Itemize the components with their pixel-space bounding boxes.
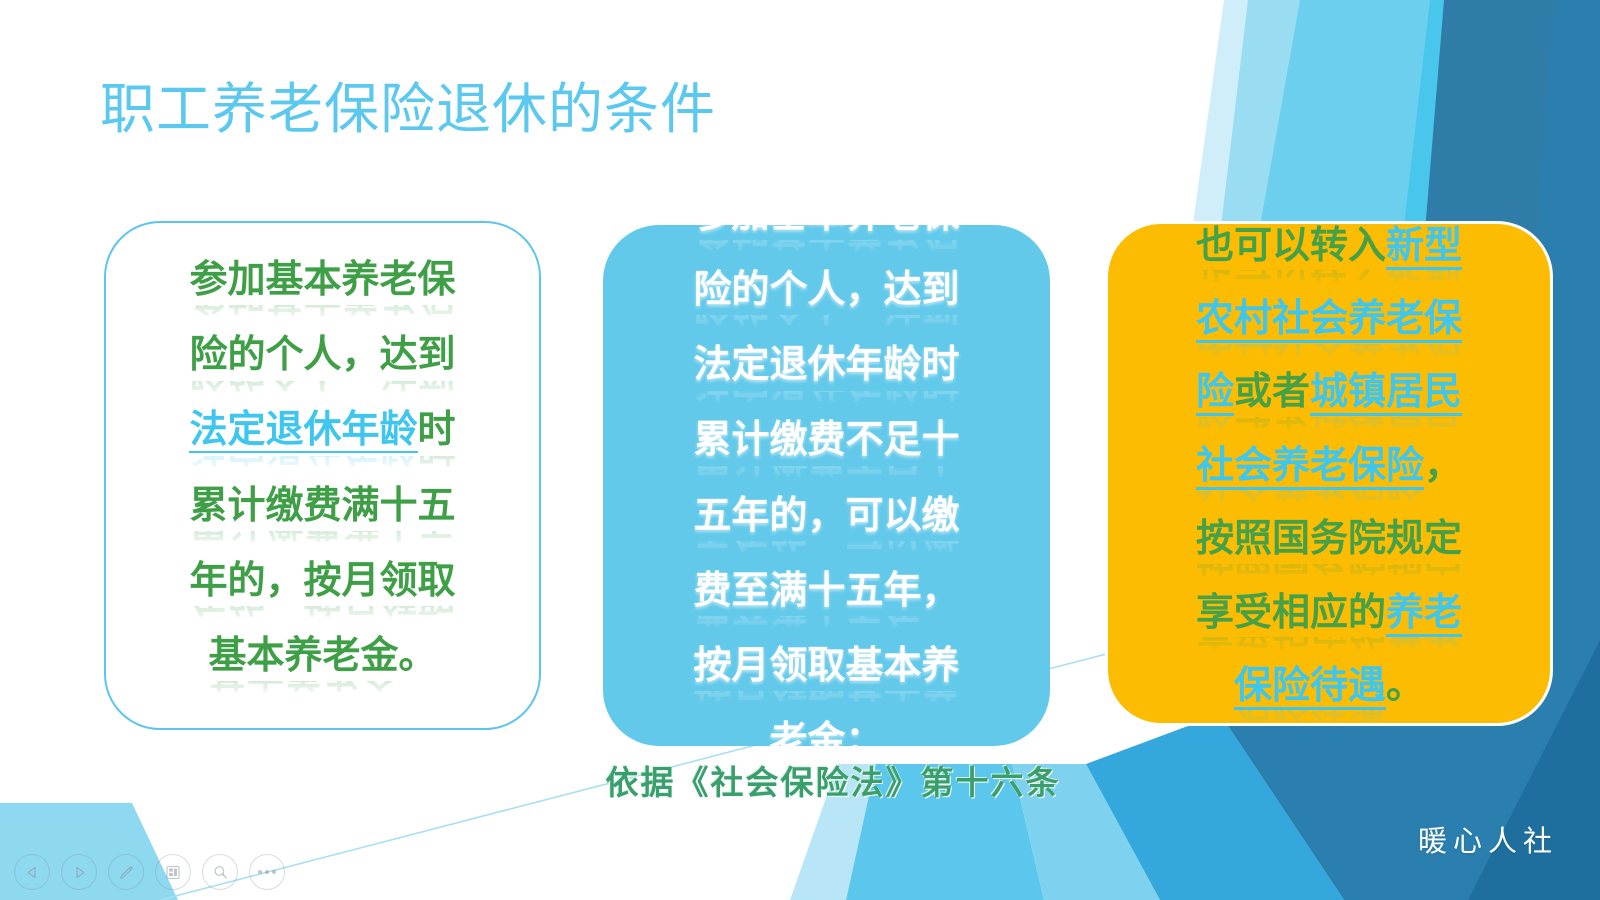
card-1-line-3-reflection: 法定退休年龄时 [124,456,521,476]
card-2-line-5-reflection: 五年的，可以缴 [621,541,1032,561]
zoom-tool-button[interactable] [202,854,238,890]
card-3-line-5: 按照国务院规定 [1196,515,1462,560]
card-1-line-1: 参加基本养老保 [189,256,455,301]
card-3-line-1-reflection: 也可以转入新型 [1126,270,1532,290]
card-3-highlight-5[interactable]: 社会养老保险 [1196,442,1424,490]
card-1-line-4-reflection: 累计缴费满十五 [124,531,521,551]
card-2-line-7: 按月领取基本养 [693,642,959,687]
presentation-slide: 职工养老保险退休的条件 参加基本养老保 参加基本养老保 险的个人，达到 险的个人… [0,0,1600,900]
card-3-highlight-4[interactable]: 城镇居民 [1310,368,1462,416]
card-1-line-6-reflection: 基本养老金。 [124,681,521,701]
card-3-line-6-reflection: 享受相应的养老 [1126,637,1532,657]
content-card-blue[interactable]: 参加基本养老保 参加基本养老保 险的个人，达到 险的个人，达到 法定退休年龄时 … [603,225,1050,746]
pen-icon [118,864,135,881]
card-2-line-3-reflection: 法定退休年龄时 [621,391,1032,411]
card-3-line-4-reflection: 社会养老保险， [1126,490,1532,510]
card-2-line-1: 参加基本养老保 [693,191,959,236]
card-1-text: 参加基本养老保 参加基本养老保 险的个人，达到 险的个人，达到 法定退休年龄时 … [106,250,539,701]
grid-icon [165,864,182,881]
card-2-line-4-reflection: 累计缴费不足十 [621,466,1032,486]
card-1-line-4: 累计缴费满十五 [189,482,455,527]
card-1-line-2-reflection: 险的个人，达到 [124,381,521,401]
card-2-line-4: 累计缴费不足十 [693,416,959,461]
card-2-line-6: 费至满十五年， [693,567,959,612]
card-3-line-3-mid: 或者 [1234,368,1310,413]
card-1-line-3-tail: 时 [418,406,456,451]
card-1-highlight-term[interactable]: 法定退休年龄 [189,406,417,453]
card-3-line-1-head: 也可以转入 [1196,222,1386,267]
card-2-line-1-reflection: 参加基本养老保 [621,240,1032,260]
card-3-line-2-reflection: 农村社会养老保 [1126,344,1532,364]
source-caption: 依据《社会保险法》第十六条 [568,756,1098,804]
slide-grid-button[interactable] [155,854,191,890]
card-3-line-3-reflection: 险或者城镇居民 [1126,417,1532,437]
bg-shape-bottom-blue [1086,714,1344,900]
card-3-line-5-reflection: 按照国务院规定 [1126,564,1532,584]
content-card-outlined[interactable]: 参加基本养老保 参加基本养老保 险的个人，达到 险的个人，达到 法定退休年龄时 … [104,221,541,730]
card-3-highlight-1[interactable]: 新型 [1386,222,1462,270]
card-3-text: 也可以转入新型 也可以转入新型 农村社会养老保 农村社会养老保 险或者城镇居民 … [1108,217,1550,730]
card-3-line-6-head: 享受相应的 [1196,589,1386,634]
card-2-line-2: 险的个人，达到 [693,266,959,311]
card-1-line-1-reflection: 参加基本养老保 [124,305,521,325]
triangle-right-icon [73,866,86,879]
card-2-line-3: 法定退休年龄时 [693,341,959,386]
card-1-line-5-reflection: 年的，按月领取 [124,606,521,626]
card-3-line-7-tail: 。 [1386,662,1424,707]
card-2-line-7-reflection: 按月领取基本养 [621,691,1032,711]
card-2-line-5: 五年的，可以缴 [693,492,959,537]
card-3-highlight-3[interactable]: 险 [1196,368,1234,416]
ellipsis-icon [258,870,276,874]
card-3-highlight-6[interactable]: 养老 [1386,589,1462,637]
card-3-line-4-tail: ， [1424,442,1462,487]
pen-tool-button[interactable] [108,854,144,890]
card-3-highlight-2[interactable]: 农村社会养老保 [1196,295,1462,343]
card-3-line-7-reflection: 保险待遇。 [1126,710,1532,730]
card-1-line-2: 险的个人，达到 [189,331,455,376]
card-1-line-5: 年的，按月领取 [189,557,455,602]
card-2-line-2-reflection: 险的个人，达到 [621,315,1032,335]
card-2-text: 参加基本养老保 参加基本养老保 险的个人，达到 险的个人，达到 法定退休年龄时 … [603,185,1050,787]
previous-slide-button[interactable] [14,854,50,890]
magnifier-icon [212,864,229,881]
next-slide-button[interactable] [61,854,97,890]
card-1-line-6: 基本养老金。 [208,632,436,677]
content-card-orange[interactable]: 也可以转入新型 也可以转入新型 农村社会养老保 农村社会养老保 险或者城镇居民 … [1105,221,1553,726]
card-2-line-6-reflection: 费至满十五年， [621,616,1032,636]
page-title: 职工养老保险退休的条件 [100,78,716,141]
slideshow-toolbar [14,854,285,890]
card-3-highlight-7[interactable]: 保险待遇 [1234,662,1386,710]
more-options-button[interactable] [249,854,285,890]
watermark-label: 暖心人社 [1418,818,1558,860]
triangle-left-icon [26,866,39,879]
